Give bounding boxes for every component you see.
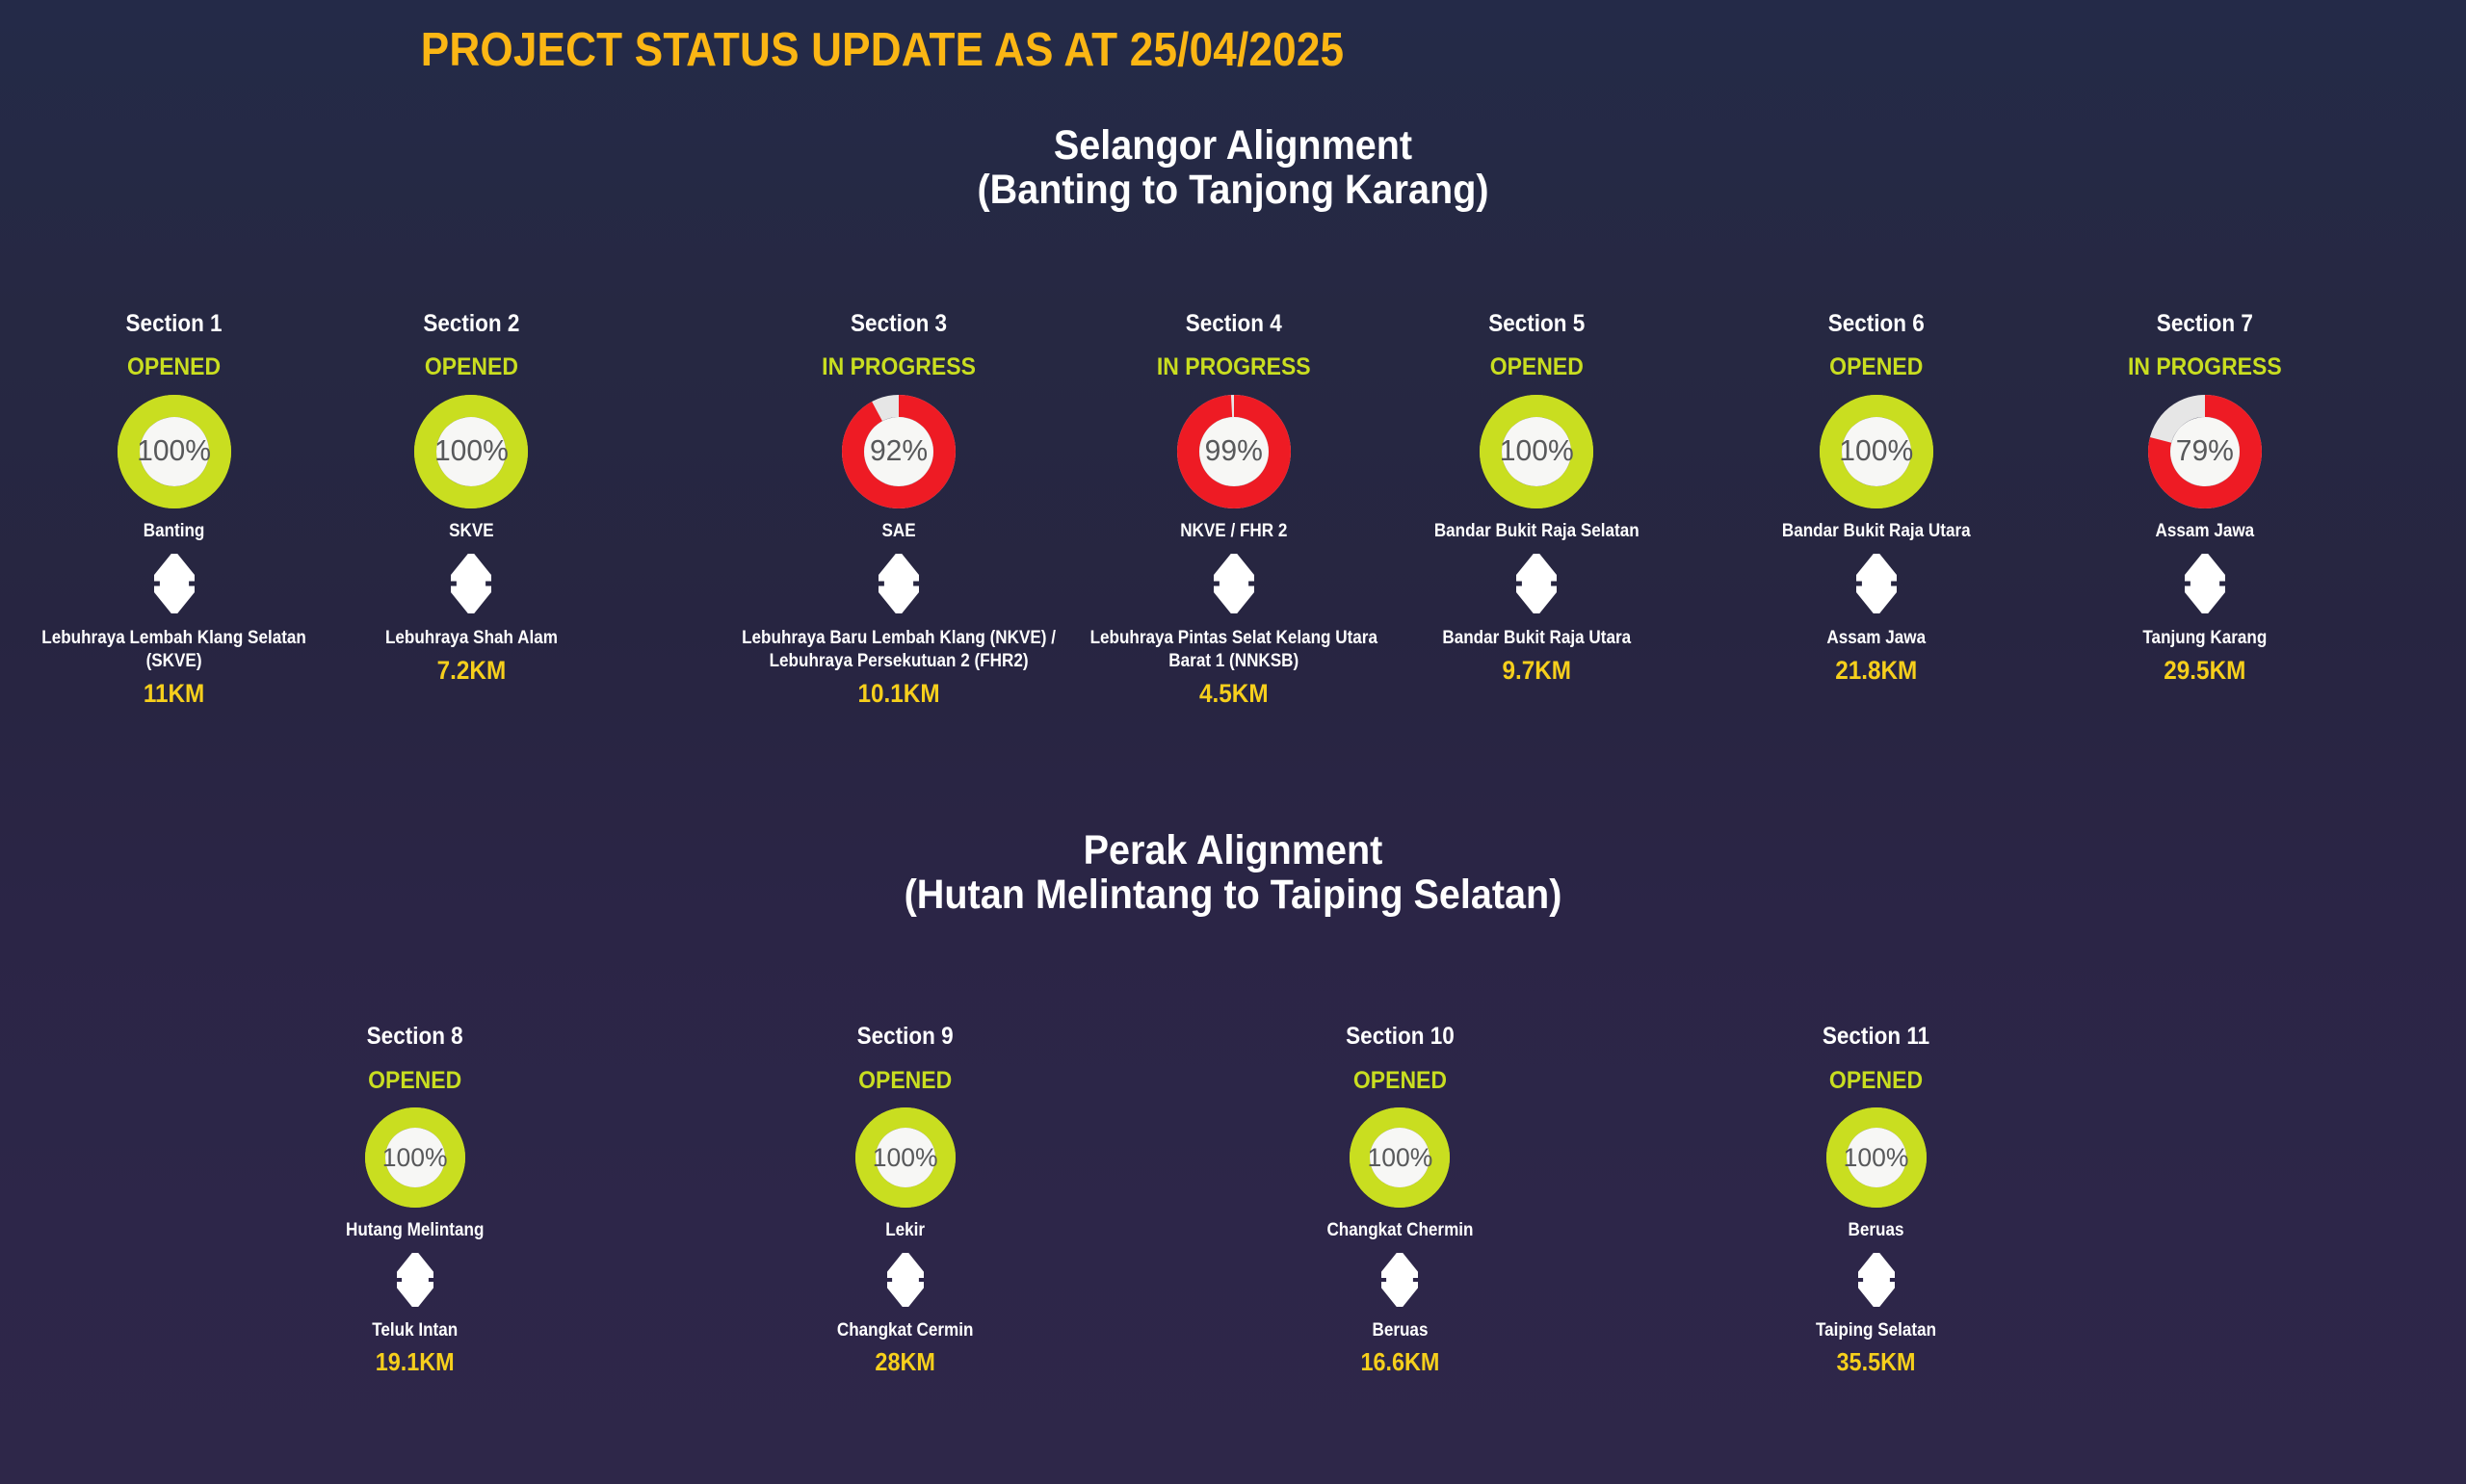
from-location-label: NKVE / FHR 2 <box>1090 521 1377 542</box>
status-badge: IN PROGRESS <box>738 353 1059 381</box>
distance-label: 7.2KM <box>385 656 558 686</box>
from-location-label: Bandar Bukit Raja Selatan <box>1434 521 1640 542</box>
percent-label: 100% <box>1423 395 1651 508</box>
to-location-label: Taiping Selatan <box>1816 1319 1936 1342</box>
percent-label: 100% <box>1809 1107 1943 1208</box>
progress-donut[interactable]: 100% <box>1319 1107 1482 1208</box>
section-name: Section 9 <box>837 1023 974 1051</box>
distance-label: 16.6KM <box>1326 1347 1473 1377</box>
from-location-label: Beruas <box>1816 1220 1936 1241</box>
bidirectional-arrow <box>27 554 321 613</box>
to-location-label: Assam Jawa <box>1782 627 1971 650</box>
alignment-title-selangor: Selangor Alignment (Banting to Tanjong K… <box>98 123 2367 212</box>
from-location-label: Banting <box>41 521 306 542</box>
distance-label: 35.5KM <box>1816 1347 1936 1377</box>
from-location-label: Lekir <box>837 1220 974 1241</box>
alignment-title-perak: Perak Alignment (Hutan Melintang to Taip… <box>98 828 2367 917</box>
from-location-label: SAE <box>742 521 1056 542</box>
to-location-label: Beruas <box>1326 1319 1473 1342</box>
section-name: Section 1 <box>41 310 306 338</box>
double-arrow-icon <box>1381 1253 1418 1307</box>
status-badge: OPENED <box>39 353 309 381</box>
alignment-title-line1: Selangor Alignment <box>1054 122 1412 169</box>
progress-donut[interactable]: 100% <box>1809 1107 1943 1208</box>
section-card-section-4[interactable]: Section 4 IN PROGRESS 99% NKVE / FHR 2 L… <box>1074 310 1394 709</box>
distance-label: 9.7KM <box>1434 656 1640 686</box>
status-badge: OPENED <box>344 1067 485 1095</box>
bidirectional-arrow <box>376 554 567 613</box>
status-badge: OPENED <box>835 1067 975 1095</box>
double-arrow-icon <box>887 1253 924 1307</box>
double-arrow-icon <box>2185 554 2225 613</box>
double-arrow-icon <box>1214 554 1254 613</box>
section-name: Section 6 <box>1782 310 1971 338</box>
bidirectional-arrow <box>2121 554 2289 613</box>
progress-donut[interactable]: 100% <box>376 395 567 508</box>
progress-donut[interactable]: 100% <box>829 1107 981 1208</box>
page-title: PROJECT STATUS UPDATE AS AT 25/04/2025 <box>89 23 1677 77</box>
from-location-label: Bandar Bukit Raja Utara <box>1782 521 1971 542</box>
status-badge: OPENED <box>383 353 560 381</box>
to-location-label: Tanjung Karang <box>2130 627 2280 650</box>
section-card-section-1[interactable]: Section 1 OPENED 100% Banting Lebuhraya … <box>27 310 321 709</box>
status-badge: OPENED <box>1431 353 1641 381</box>
section-card-section-2[interactable]: Section 2 OPENED 100% SKVE Lebuhraya Sha… <box>376 310 567 686</box>
distance-label: 28KM <box>837 1347 974 1377</box>
progress-donut[interactable]: 92% <box>724 395 1073 508</box>
from-location-label: Assam Jawa <box>2130 521 2280 542</box>
double-arrow-icon <box>154 554 195 613</box>
infographic-root: PROJECT STATUS UPDATE AS AT 25/04/2025 S… <box>0 0 2466 1484</box>
bidirectional-arrow <box>1809 1253 1943 1307</box>
section-name: Section 2 <box>385 310 558 338</box>
percent-label: 99% <box>1074 395 1394 508</box>
bidirectional-arrow <box>1074 554 1394 613</box>
bidirectional-arrow <box>1771 554 1981 613</box>
to-location-label: Lebuhraya Lembah Klang Selatan(SKVE) <box>41 627 306 673</box>
distance-label: 11KM <box>41 679 306 709</box>
progress-donut[interactable]: 79% <box>2121 395 2289 508</box>
section-card-section-7[interactable]: Section 7 IN PROGRESS 79% Assam Jawa Tan… <box>2121 310 2289 686</box>
percent-label: 79% <box>2121 395 2289 508</box>
section-name: Section 7 <box>2130 310 2280 338</box>
percent-label: 92% <box>724 395 1073 508</box>
section-name: Section 10 <box>1326 1023 1473 1051</box>
alignment-title-line2: (Banting to Tanjong Karang) <box>98 168 2367 212</box>
distance-label: 4.5KM <box>1090 679 1377 709</box>
section-card-section-8[interactable]: Section 8 OPENED 100% Hutang Melintang T… <box>338 1023 491 1377</box>
bidirectional-arrow <box>338 1253 491 1307</box>
percent-label: 100% <box>27 395 321 508</box>
distance-label: 19.1KM <box>346 1347 484 1377</box>
double-arrow-icon <box>879 554 919 613</box>
double-arrow-icon <box>1856 554 1897 613</box>
section-name: Section 3 <box>742 310 1056 338</box>
status-badge: IN PROGRESS <box>2128 353 2282 381</box>
to-location-label: Changkat Cermin <box>837 1319 974 1342</box>
from-location-label: Changkat Chermin <box>1326 1220 1473 1241</box>
progress-donut[interactable]: 99% <box>1074 395 1394 508</box>
section-name: Section 8 <box>346 1023 484 1051</box>
to-location-label: Teluk Intan <box>346 1319 484 1342</box>
section-card-section-5[interactable]: Section 5 OPENED 100% Bandar Bukit Raja … <box>1423 310 1651 686</box>
distance-label: 10.1KM <box>742 679 1056 709</box>
section-name: Section 11 <box>1816 1023 1936 1051</box>
from-location-label: Hutang Melintang <box>346 1220 484 1241</box>
bidirectional-arrow <box>1319 1253 1482 1307</box>
section-name: Section 4 <box>1090 310 1377 338</box>
alignment-title-line1: Perak Alignment <box>1084 827 1383 873</box>
section-card-section-10[interactable]: Section 10 OPENED 100% Changkat Chermin … <box>1319 1023 1482 1377</box>
progress-donut[interactable]: 100% <box>27 395 321 508</box>
progress-donut[interactable]: 100% <box>1771 395 1981 508</box>
to-location-label: Lebuhraya Shah Alam <box>385 627 558 650</box>
percent-label: 100% <box>829 1107 981 1208</box>
double-arrow-icon <box>397 1253 433 1307</box>
percent-label: 100% <box>1771 395 1981 508</box>
status-badge: OPENED <box>1815 1067 1938 1095</box>
status-badge: OPENED <box>1780 353 1973 381</box>
distance-label: 29.5KM <box>2130 656 2280 686</box>
percent-label: 100% <box>376 395 567 508</box>
section-card-section-9[interactable]: Section 9 OPENED 100% Lekir Changkat Cer… <box>829 1023 981 1377</box>
to-location-label: Bandar Bukit Raja Utara <box>1434 627 1640 650</box>
section-card-section-11[interactable]: Section 11 OPENED 100% Beruas Taiping Se… <box>1809 1023 1943 1377</box>
progress-donut[interactable]: 100% <box>338 1107 491 1208</box>
bidirectional-arrow <box>724 554 1073 613</box>
progress-donut[interactable]: 100% <box>1423 395 1651 508</box>
double-arrow-icon <box>1516 554 1557 613</box>
distance-label: 21.8KM <box>1782 656 1971 686</box>
from-location-label: SKVE <box>385 521 558 542</box>
to-location-label: Lebuhraya Pintas Selat Kelang UtaraBarat… <box>1090 627 1377 673</box>
double-arrow-icon <box>1858 1253 1895 1307</box>
bidirectional-arrow <box>1423 554 1651 613</box>
section-name: Section 5 <box>1434 310 1640 338</box>
double-arrow-icon <box>451 554 491 613</box>
alignment-title-line2: (Hutan Melintang to Taiping Selatan) <box>98 872 2367 917</box>
section-card-section-6[interactable]: Section 6 OPENED 100% Bandar Bukit Raja … <box>1771 310 1981 686</box>
percent-label: 100% <box>1319 1107 1482 1208</box>
status-badge: OPENED <box>1325 1067 1475 1095</box>
percent-label: 100% <box>338 1107 491 1208</box>
bidirectional-arrow <box>829 1253 981 1307</box>
section-card-section-3[interactable]: Section 3 IN PROGRESS 92% SAE Lebuhraya … <box>724 310 1073 709</box>
status-badge: IN PROGRESS <box>1087 353 1380 381</box>
to-location-label: Lebuhraya Baru Lembah Klang (NKVE) /Lebu… <box>742 627 1056 673</box>
